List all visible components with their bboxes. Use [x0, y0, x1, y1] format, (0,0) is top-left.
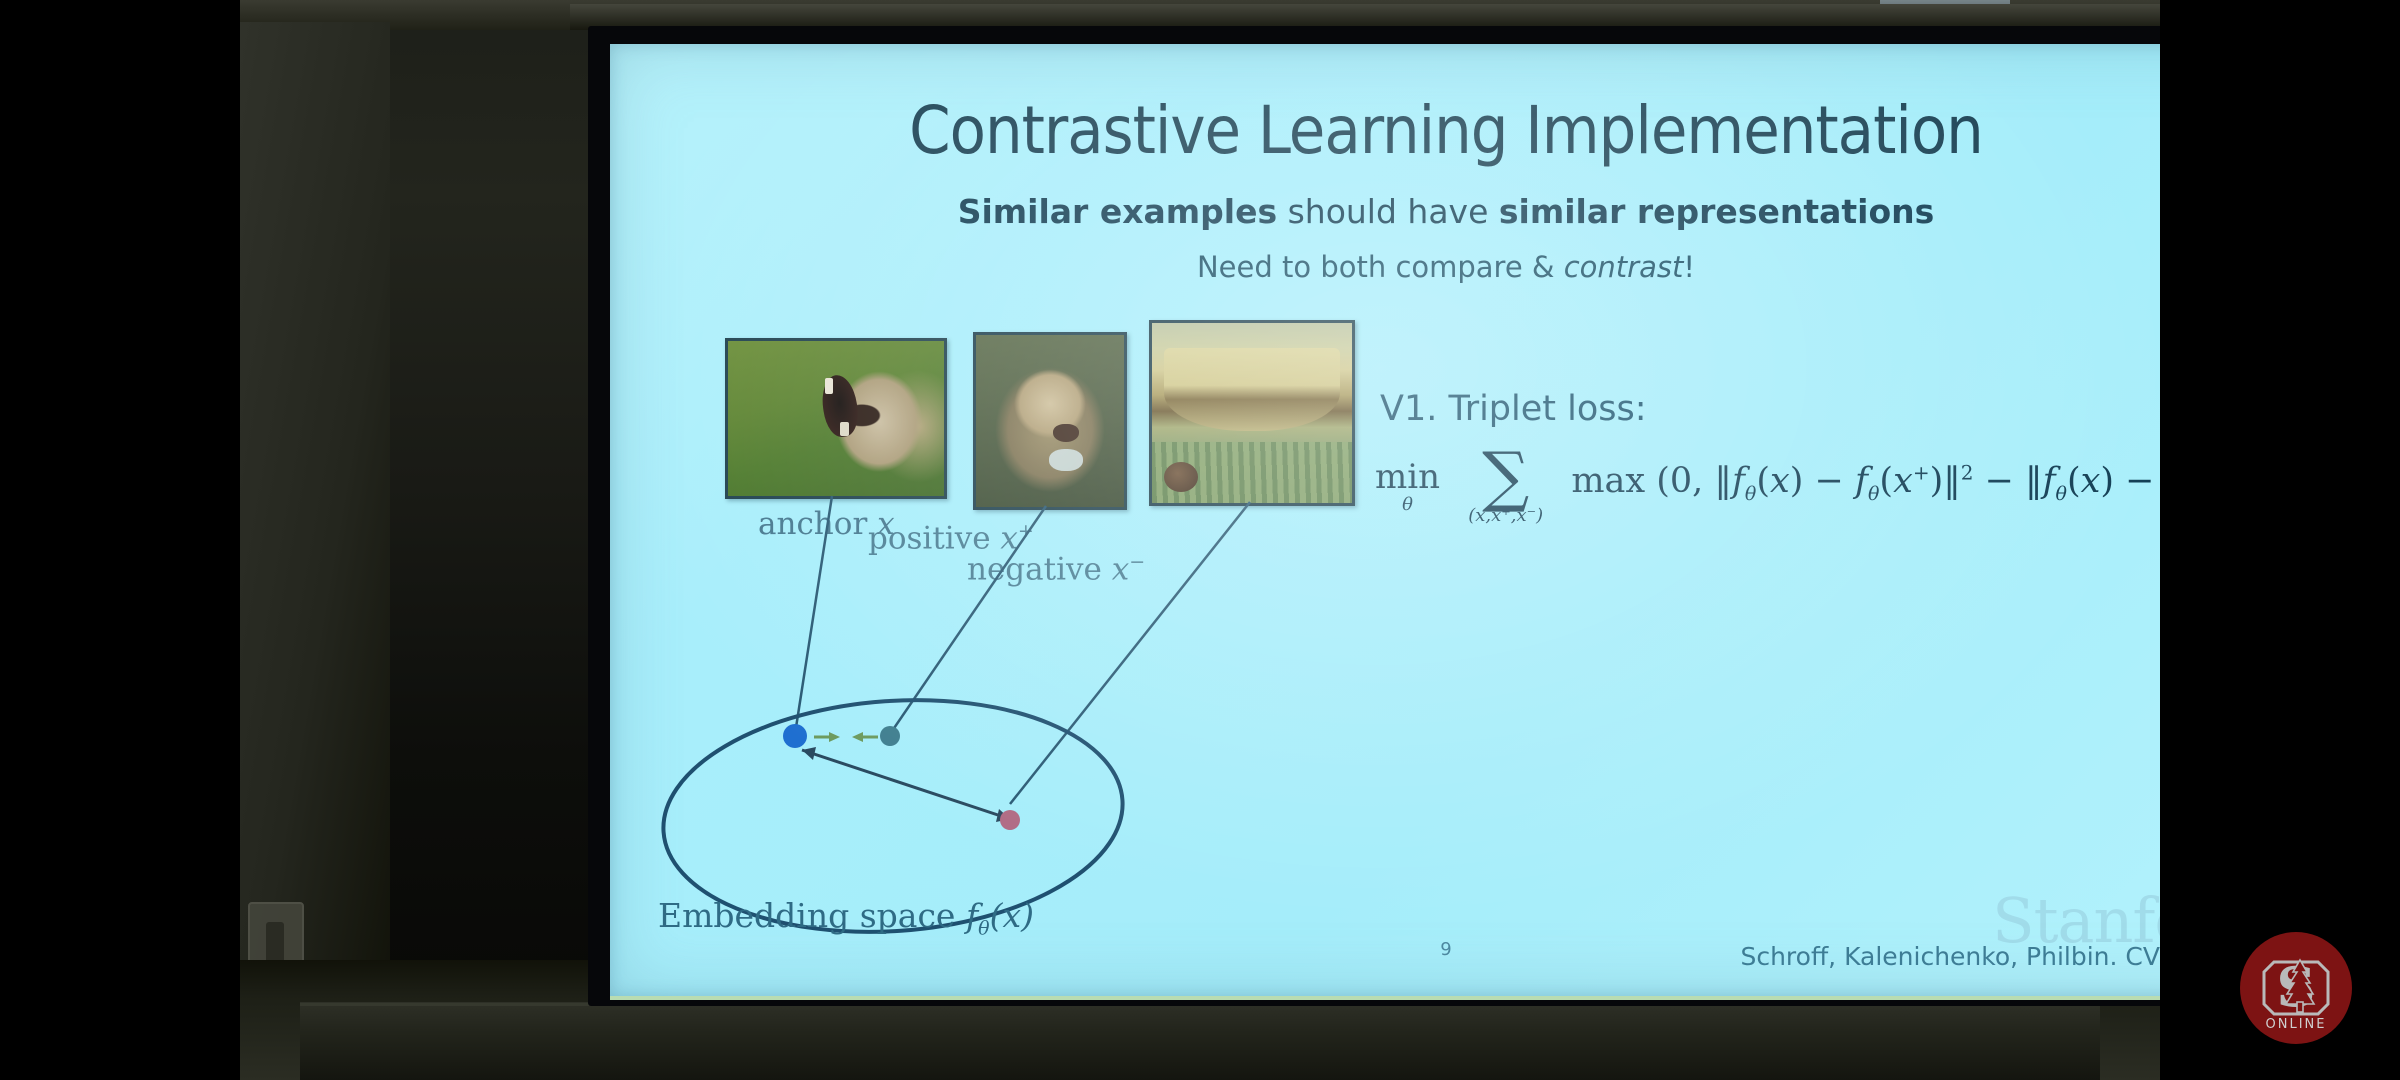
attract-arrowhead-left: [852, 732, 863, 742]
positive-point: [880, 726, 900, 746]
attract-arrowhead-right: [829, 732, 840, 742]
letterbox-left: [0, 0, 240, 1080]
stanford-online-logo: S ONLINE: [2240, 932, 2352, 1044]
citation-text: Schroff, Kalenichenko, Philbin. CVPR 201…: [1740, 942, 2160, 971]
anchor-point: [783, 724, 807, 748]
sum-operator: ∑ (x,x⁺,x⁻): [1468, 449, 1543, 525]
formula-body: max (0, ‖fθ(x) − fθ(x+)‖2 − ‖fθ(x) − fθ(…: [1571, 461, 2160, 501]
embedding-fn-arg: (x): [990, 896, 1034, 935]
connector-anchor: [795, 496, 832, 734]
embedding-space-label: Embedding space fθ(x): [658, 896, 1034, 940]
embedding-fn-sub: θ: [978, 918, 989, 940]
sum-op-sub: (x,x⁺,x⁻): [1468, 507, 1543, 525]
sum-op-symbol: ∑: [1468, 449, 1543, 505]
min-operator: min θ: [1375, 460, 1440, 514]
logo-online-label: ONLINE: [2266, 1017, 2327, 1032]
projected-slide: Contrastive Learning Implementation Simi…: [610, 44, 2160, 1000]
repel-arrow-line: [802, 750, 1010, 819]
embedding-fn: f: [966, 896, 978, 935]
front-desk: [300, 1002, 2100, 1080]
letterbox-right: [2160, 0, 2400, 1080]
section-label: V1. Triplet loss:: [1380, 389, 1647, 429]
lecture-room: Contrastive Learning Implementation Simi…: [240, 0, 2160, 1080]
triplet-loss-formula: min θ ∑ (x,x⁺,x⁻) max (0, ‖fθ(x) − fθ(x+…: [1375, 449, 2160, 525]
screenshot-stage: Contrastive Learning Implementation Simi…: [0, 0, 2400, 1080]
min-op-sub: θ: [1375, 496, 1440, 514]
min-op-text: min: [1375, 460, 1440, 494]
embedding-space-text: Embedding space: [658, 896, 955, 935]
connector-negative: [1010, 502, 1250, 804]
repel-arrowhead-left: [802, 747, 816, 760]
negative-point: [1000, 810, 1020, 830]
stanford-tree-icon: S ONLINE: [2248, 940, 2344, 1036]
left-wall: [240, 22, 390, 1080]
